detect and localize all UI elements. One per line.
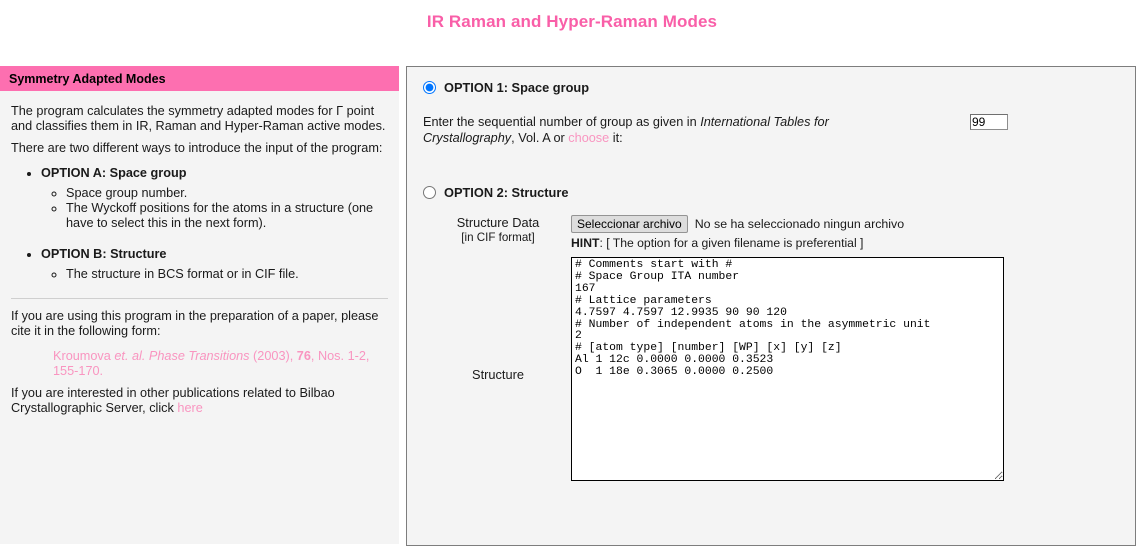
option-a-sublist: Space group number. The Wyckoff position…: [41, 186, 388, 231]
option1-description: Enter the sequential number of group as …: [423, 114, 843, 146]
select-file-button[interactable]: Seleccionar archivo: [571, 215, 688, 233]
option1-row[interactable]: OPTION 1: Space group: [407, 67, 1135, 95]
sidebar-ways-text: There are two different ways to introduc…: [11, 141, 388, 156]
option2-row[interactable]: OPTION 2: Structure: [407, 172, 1135, 200]
option-b-label: OPTION B: Structure: [41, 247, 166, 261]
option1-desc-post: it:: [609, 131, 622, 145]
list-item: Space group number.: [66, 186, 388, 201]
form-panel: OPTION 1: Space group Enter the sequenti…: [406, 66, 1136, 546]
option1-radio[interactable]: [423, 81, 436, 94]
citation-journal: et. al. Phase Transitions: [114, 349, 249, 363]
sidebar-body: The program calculates the symmetry adap…: [0, 91, 399, 416]
list-item: The structure in BCS format or in CIF fi…: [66, 267, 388, 282]
cif-format-label: [in CIF format]: [443, 231, 553, 244]
structure-data-label: Structure Data: [457, 215, 540, 230]
list-item: The Wyckoff positions for the atoms in a…: [66, 201, 388, 231]
structure-labels-column: Structure Data [in CIF format] Structure: [407, 215, 553, 481]
structure-fields-grid: Structure Data [in CIF format] Structure…: [407, 215, 1135, 481]
option-a-label: OPTION A: Space group: [41, 166, 186, 180]
sidebar-panel: Symmetry Adapted Modes The program calcu…: [0, 66, 399, 544]
option-a-item: OPTION A: Space group Space group number…: [41, 166, 388, 231]
citation-year: (2003),: [250, 349, 297, 363]
citation-intro-text: If you are using this program in the pre…: [11, 309, 388, 339]
options-list: OPTION A: Space group Space group number…: [11, 166, 388, 282]
option2-label: OPTION 2: Structure: [444, 185, 568, 200]
file-input-row[interactable]: Seleccionar archivo No se ha seleccionad…: [571, 215, 1004, 233]
divider: [11, 298, 388, 299]
file-status-text: No se ha seleccionado ningun archivo: [695, 217, 904, 231]
option-b-item: OPTION B: Structure The structure in BCS…: [41, 247, 388, 282]
choose-link[interactable]: choose: [568, 131, 609, 145]
citation-reference: Kroumova et. al. Phase Transitions (2003…: [11, 349, 388, 379]
page-title: IR Raman and Hyper-Raman Modes: [0, 0, 1144, 32]
publications-text: If you are interested in other publicati…: [11, 386, 388, 416]
citation-volume: 76: [297, 349, 311, 363]
hint-bold-label: HINT: [571, 236, 599, 250]
option1-desc-mid: , Vol. A or: [511, 131, 568, 145]
citation-authors: Kroumova: [53, 349, 114, 363]
option2-radio[interactable]: [423, 186, 436, 199]
option1-desc-pre: Enter the sequential number of group as …: [423, 115, 700, 129]
publications-sentence: If you are interested in other publicati…: [11, 386, 335, 415]
hint-rest-text: : [ The option for a given filename is p…: [599, 236, 863, 250]
option-b-sublist: The structure in BCS format or in CIF fi…: [41, 267, 388, 282]
publications-here-link[interactable]: here: [177, 401, 202, 415]
structure-textarea[interactable]: # Comments start with # # Space Group IT…: [571, 257, 1004, 481]
sidebar-header: Symmetry Adapted Modes: [0, 66, 399, 91]
option1-label: OPTION 1: Space group: [444, 80, 589, 95]
space-group-number-input[interactable]: [970, 114, 1008, 130]
structure-data-label-group: Structure Data [in CIF format]: [443, 215, 553, 244]
structure-inputs-column: Seleccionar archivo No se ha seleccionad…: [553, 215, 1004, 481]
hint-text: HINT: [ The option for a given filename …: [571, 236, 1004, 250]
structure-label: Structure: [443, 367, 553, 382]
option2-block: OPTION 2: Structure Structure Data [in C…: [407, 172, 1135, 481]
sidebar-intro-text: The program calculates the symmetry adap…: [11, 104, 388, 134]
